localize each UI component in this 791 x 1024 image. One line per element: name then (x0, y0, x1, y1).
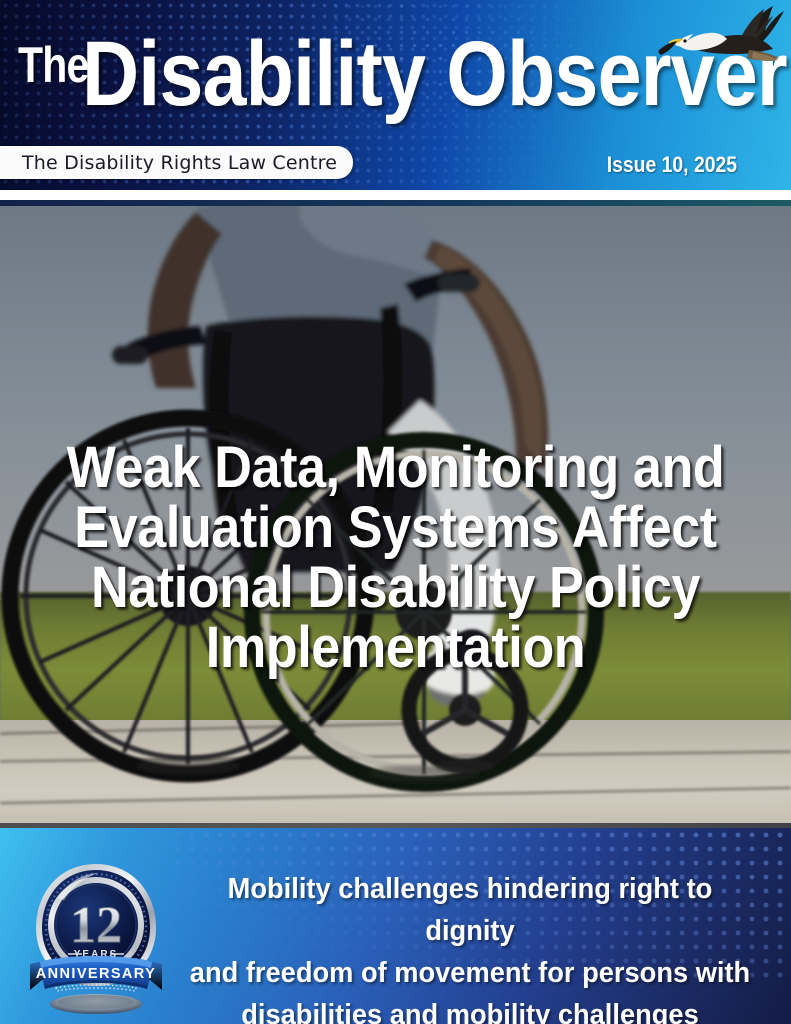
footer-caption-line: disabilities and mobility challenges (186, 994, 754, 1024)
masthead-banner: TheDisability Observer The Disability Ri (0, 0, 791, 190)
footer-caption-line: Mobility challenges hindering right to d… (186, 868, 754, 952)
badge-ribbon-label: ANNIVERSARY (36, 966, 156, 982)
tagline-text: The Disability Rights Law Centre (22, 152, 337, 174)
newsletter-cover: TheDisability Observer The Disability Ri (0, 0, 791, 1024)
anniversary-badge-icon: 12 YEARS ANNIVERSARY (16, 858, 176, 1016)
eagle-icon (657, 4, 785, 82)
headline-line: Implementation (58, 618, 734, 678)
headline-line: National Disability Policy (58, 558, 734, 618)
badge-number: 12 (70, 897, 122, 954)
hero-top-border (0, 200, 791, 206)
tagline-badge: The Disability Rights Law Centre (0, 146, 353, 179)
cover-headline: Weak Data, Monitoring and Evaluation Sys… (20, 438, 771, 678)
header-photo-divider (0, 190, 791, 200)
footer-caption-line: and freedom of movement for persons with (186, 952, 754, 994)
title-prefix: The (18, 40, 88, 90)
headline-line: Evaluation Systems Affect (58, 498, 734, 558)
footer-caption: Mobility challenges hindering right to d… (168, 868, 772, 1024)
headline-line: Weak Data, Monitoring and (58, 438, 734, 498)
publication-title: TheDisability Observer (18, 26, 758, 138)
issue-label: Issue 10, 2025 (607, 152, 737, 178)
hero-bottom-border (0, 823, 791, 828)
